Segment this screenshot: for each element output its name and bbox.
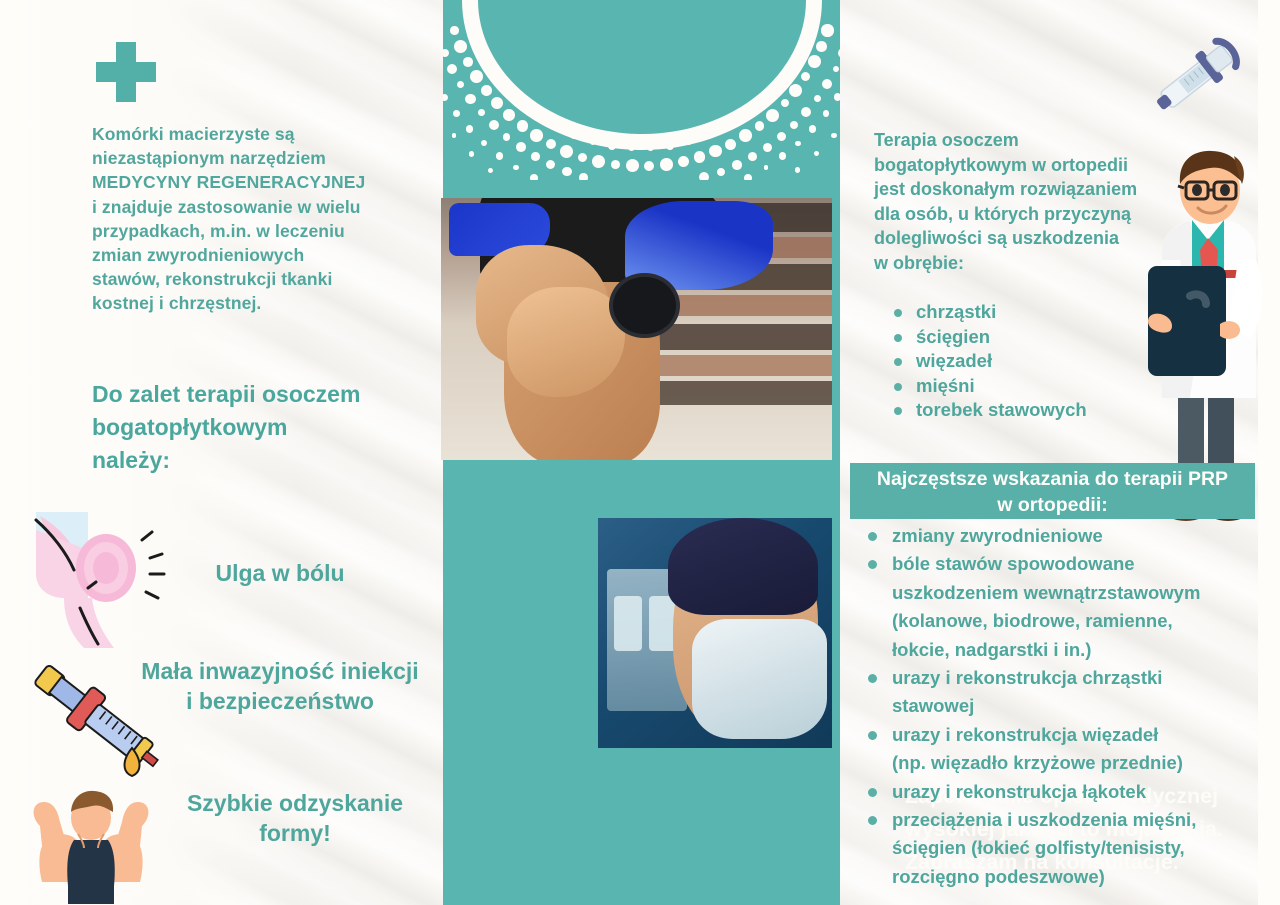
list-item-text: urazy i rekonstrukcja chrząstki bbox=[892, 667, 1162, 688]
list-item-cont: (kolanowe, biodrowe, ramienne, bbox=[892, 607, 1260, 635]
brochure-page: Komórki macierzyste są niezastąpionym na… bbox=[0, 0, 1280, 905]
list-item: urazy i rekonstrukcja chrząstki stawowej bbox=[860, 664, 1260, 721]
prp-indications-band: Najczęstsze wskazania do terapii PRP w o… bbox=[850, 463, 1255, 519]
stem-cells-line: niezastąpionym narzędziem bbox=[92, 146, 422, 170]
list-item-text: bóle stawów spowodowane bbox=[892, 553, 1135, 574]
prp-band-title-line1: Najczęstsze wskazania do terapii PRP bbox=[877, 468, 1228, 490]
stem-cells-line: MEDYCYNY REGENERACYJNEJ bbox=[92, 170, 422, 194]
list-item-text: zmiany zwyrodnieniowe bbox=[892, 525, 1103, 546]
stem-cells-paragraph: Komórki macierzyste są niezastąpionym na… bbox=[92, 122, 422, 316]
list-item-cont: rozcięgno podeszwowe) bbox=[892, 863, 1260, 891]
list-item-text: urazy i rekonstrukcja łąkotek bbox=[892, 781, 1146, 802]
list-item-cont: stawowej bbox=[892, 692, 1260, 720]
benefits-heading-line: bogatopłytkowym bbox=[92, 411, 432, 444]
dotted-arc-decoration bbox=[443, 0, 840, 180]
strong-man-icon bbox=[26, 786, 156, 904]
list-item: urazy i rekonstrukcja więzadeł (np. więz… bbox=[860, 721, 1260, 778]
list-item: przeciążenia i uszkodzenia mięśni, ścięg… bbox=[860, 806, 1260, 891]
list-item-cont: ścięgien (łokieć golfisty/tenisisty, bbox=[892, 834, 1260, 862]
list-item: bóle stawów spowodowane uszkodzeniem wew… bbox=[860, 550, 1260, 664]
benefit-label-fast-recovery: Szybkie odzyskanie formy! bbox=[140, 788, 450, 848]
list-item: urazy i rekonstrukcja łąkotek bbox=[860, 778, 1260, 806]
knee-pain-photo bbox=[441, 198, 832, 460]
list-item-text: przeciążenia i uszkodzenia mięśni, bbox=[892, 809, 1196, 830]
medical-plus-icon bbox=[96, 42, 156, 102]
stem-cells-line: stawów, rekonstrukcji tkanki bbox=[92, 267, 422, 291]
stem-cells-line: i znajduje zastosowanie w wielu bbox=[92, 195, 422, 219]
benefit-label-pain-relief: Ulga w bólu bbox=[150, 558, 410, 588]
prp-indications-list: zmiany zwyrodnieniowe bóle stawów spowod… bbox=[860, 522, 1260, 891]
benefits-heading-line: Do zalet terapii osoczem bbox=[92, 378, 432, 411]
stem-cells-line: kostnej i chrzęstnej. bbox=[92, 291, 422, 315]
list-item-cont: (np. więzadło krzyżowe przednie) bbox=[892, 749, 1260, 777]
benefit-label-line: Ulga w bólu bbox=[150, 558, 410, 588]
stem-cells-line: zmian zwyrodnieniowych bbox=[92, 243, 422, 267]
benefit-label-line: formy! bbox=[140, 818, 450, 848]
stem-cells-line: przypadkach, m.in. w leczeniu bbox=[92, 219, 422, 243]
benefit-label-line: Szybkie odzyskanie bbox=[140, 788, 450, 818]
benefit-label-low-invasiveness: Mała inwazyjność iniekcji i bezpieczeńst… bbox=[110, 656, 450, 716]
benefits-heading-line: należy: bbox=[92, 444, 432, 477]
surgeon-portrait-photo bbox=[598, 518, 832, 748]
prp-band-title-line2: w ortopedii: bbox=[850, 492, 1255, 518]
list-item-text: urazy i rekonstrukcja więzadeł bbox=[892, 724, 1158, 745]
list-item: zmiany zwyrodnieniowe bbox=[860, 522, 1260, 550]
list-item-cont: łokcie, nadgarstki i in.) bbox=[892, 636, 1260, 664]
syringe-icon bbox=[1150, 28, 1240, 128]
benefit-label-line: Mała inwazyjność iniekcji bbox=[110, 656, 450, 686]
list-item-cont: uszkodzeniem wewnątrzstawowym bbox=[892, 579, 1260, 607]
benefits-heading: Do zalet terapii osoczem bogatopłytkowym… bbox=[92, 378, 432, 477]
stem-cells-line: Komórki macierzyste są bbox=[92, 122, 422, 146]
benefit-label-line: i bezpieczeństwo bbox=[110, 686, 450, 716]
